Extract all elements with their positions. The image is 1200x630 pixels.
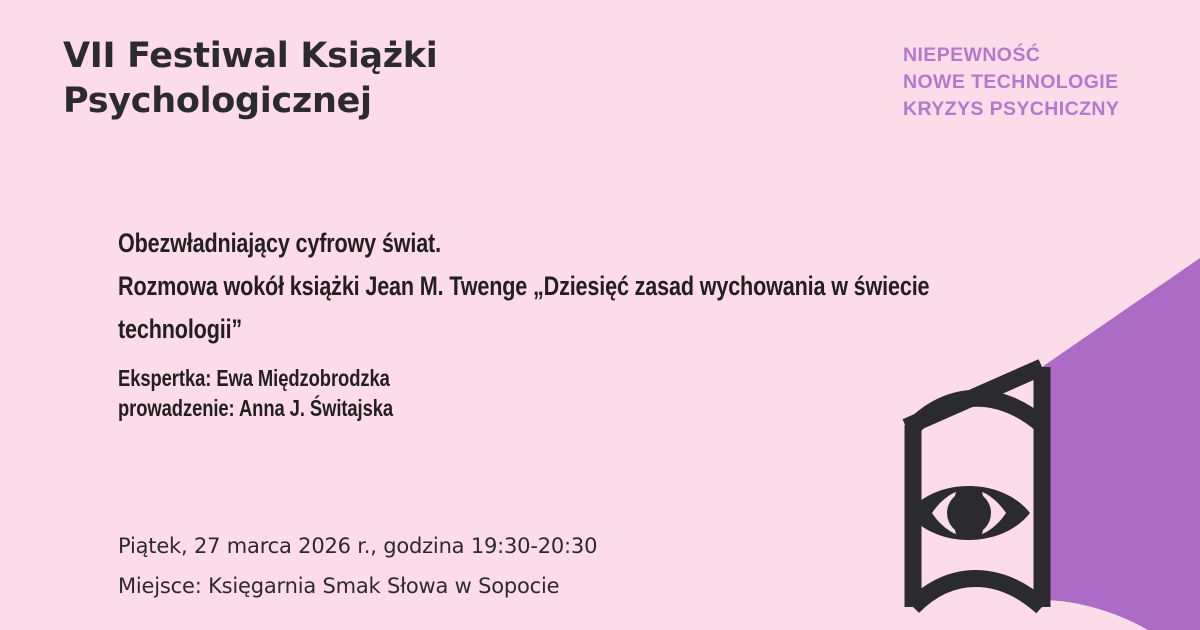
event-block: Obezwładniający cyfrowy świat. Rozmowa w… bbox=[118, 222, 998, 423]
open-book-with-eye-logo bbox=[880, 355, 1060, 630]
keyword-item-3: KRYZYS PSYCHICZNY bbox=[903, 96, 1119, 123]
event-details: Piątek, 27 marca 2026 r., godzina 19:30-… bbox=[118, 526, 597, 606]
event-credits: Ekspertka: Ewa Międzobrodzka prowadzenie… bbox=[118, 363, 758, 423]
keyword-list: NIEPEWNOŚĆ NOWE TECHNOLOGIE KRYZYS PSYCH… bbox=[903, 42, 1119, 123]
festival-title: VII Festiwal Książki Psychologicznej bbox=[63, 34, 533, 124]
event-datetime: Piątek, 27 marca 2026 r., godzina 19:30-… bbox=[118, 526, 597, 566]
keyword-item-1: NIEPEWNOŚĆ bbox=[903, 42, 1119, 69]
eye-icon bbox=[908, 486, 1030, 540]
keyword-item-2: NOWE TECHNOLOGIE bbox=[903, 69, 1119, 96]
poster-canvas: VII Festiwal Książki Psychologicznej NIE… bbox=[0, 0, 1200, 630]
credit-expert: Ekspertka: Ewa Międzobrodzka bbox=[118, 363, 758, 393]
credit-host: prowadzenie: Anna J. Świtajska bbox=[118, 393, 758, 423]
event-title: Obezwładniający cyfrowy świat. Rozmowa w… bbox=[118, 222, 998, 351]
event-venue: Miejsce: Księgarnia Smak Słowa w Sopocie bbox=[118, 566, 597, 606]
